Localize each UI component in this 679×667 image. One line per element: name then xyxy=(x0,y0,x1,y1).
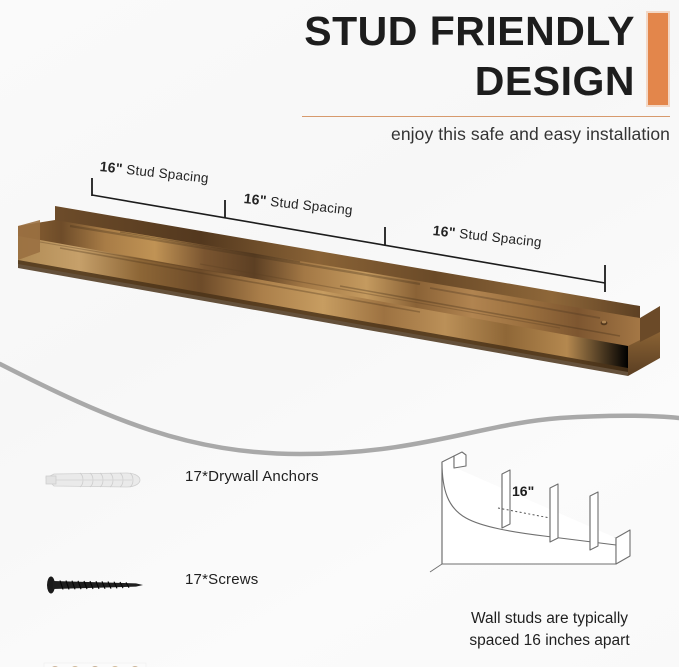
list-item: 17*Drywall Anchors xyxy=(0,448,420,501)
list-item: 17*Screws xyxy=(0,501,420,554)
list-item: 1*Level xyxy=(0,607,420,660)
shelf-top-surface xyxy=(18,220,640,350)
screw-hole-highlight xyxy=(602,321,606,324)
wall-stud-illustration: 16" xyxy=(424,446,679,576)
list-item-label: 17*Drywall Anchors xyxy=(185,468,319,485)
caption-line-1: Wall studs are typically xyxy=(420,608,679,630)
hole-stickers-icon xyxy=(40,660,160,667)
drywall-anchor-icon xyxy=(40,456,160,504)
wall-diagram-caption: Wall studs are typically spaced 16 inche… xyxy=(420,608,679,652)
included-parts-list: 17*Drywall Anchors 17*Screws xyxy=(0,448,420,660)
caption-line-2: spaced 16 inches apart xyxy=(420,630,679,652)
stud-distance-callout: 16" xyxy=(512,483,534,499)
list-item: 1*Hole Stickers xyxy=(0,554,420,607)
span-value-1: 16" xyxy=(99,158,123,176)
product-infographic: STUD FRIENDLY DESIGN enjoy this safe and… xyxy=(0,0,679,667)
